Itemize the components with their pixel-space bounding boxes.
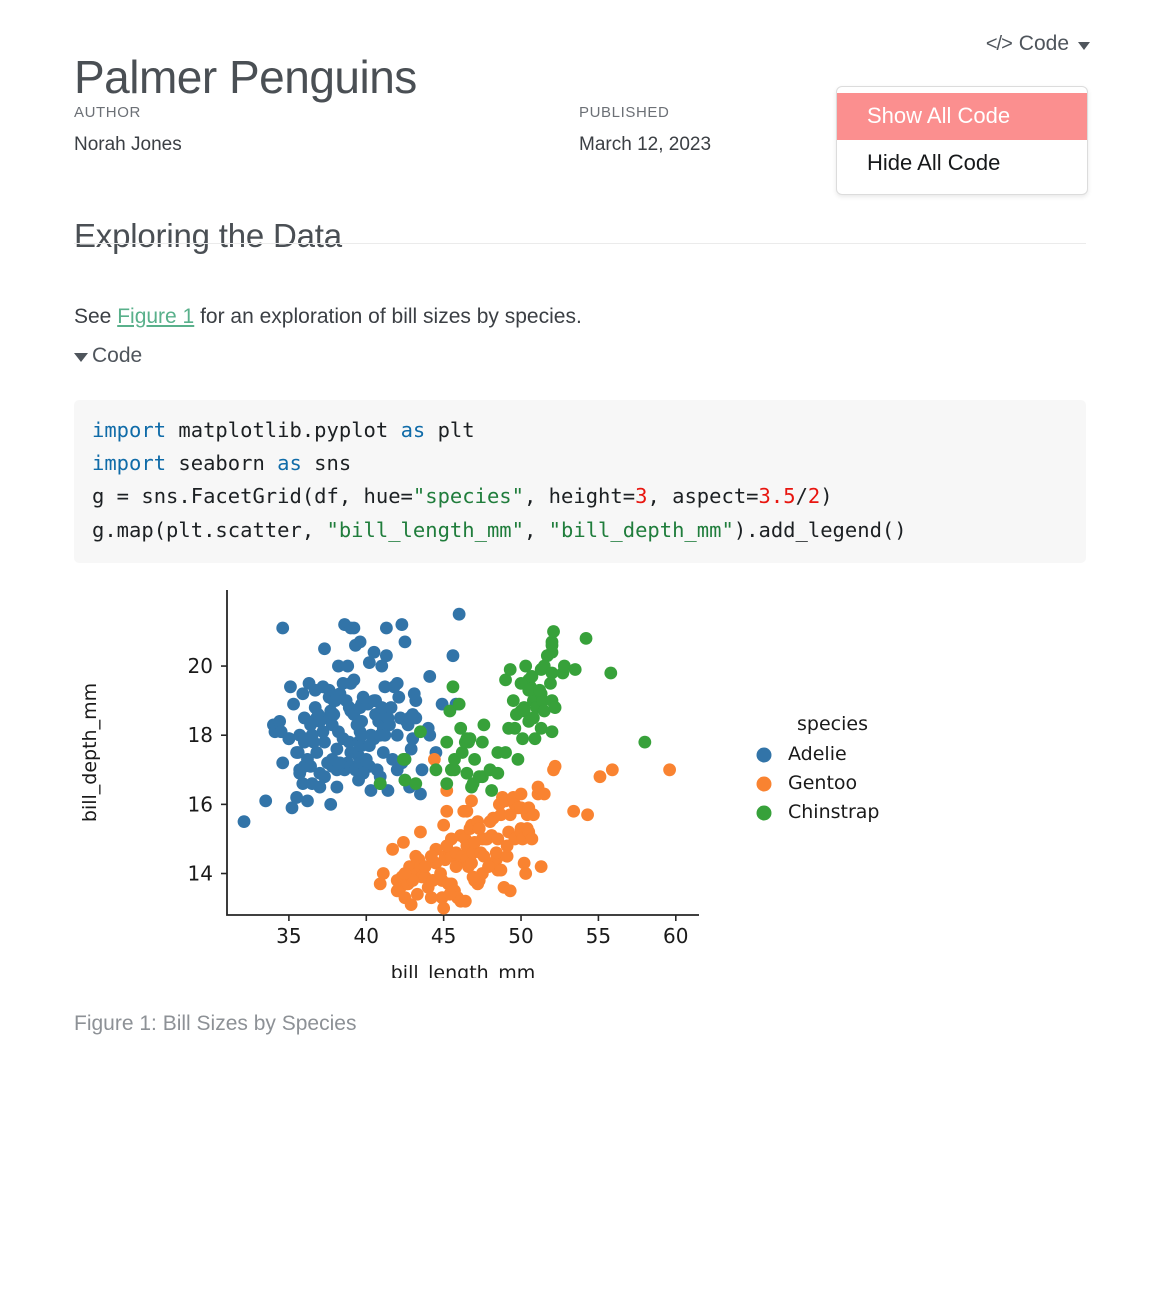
code-block: import matplotlib.pyplot as plt import s…: [74, 400, 1086, 563]
author-block: AUTHOR Norah Jones: [74, 102, 182, 158]
code-source[interactable]: import matplotlib.pyplot as plt import s…: [74, 414, 1086, 547]
code-menu-label: Code: [1019, 32, 1069, 56]
scatter-points: [238, 608, 676, 915]
y-tick-label: 18: [188, 723, 213, 747]
figure-caption: Figure 1: Bill Sizes by Species: [74, 1012, 356, 1036]
legend-label-gentoo: Gentoo: [788, 772, 857, 794]
y-tick-label: 14: [188, 862, 213, 886]
code-angle-brackets-icon: </>: [986, 33, 1012, 56]
code-fold-label: Code: [92, 344, 142, 368]
y-tick-label: 20: [188, 654, 213, 678]
x-axis-label: bill_length_mm: [391, 962, 535, 978]
series-adelie: [238, 608, 466, 828]
scatter-plot: 35404550556014161820bill_length_mmbill_d…: [74, 578, 1086, 978]
published-block: PUBLISHED March 12, 2023: [579, 102, 711, 158]
menu-item-hide-all-code[interactable]: Hide All Code: [837, 140, 1087, 187]
figure-1-link[interactable]: Figure 1: [117, 305, 194, 328]
published-value: March 12, 2023: [579, 132, 711, 159]
x-tick-label: 55: [586, 924, 611, 948]
section-heading: Exploring the Data: [74, 217, 342, 255]
paragraph-text-after: for an exploration of bill sizes by spec…: [194, 305, 582, 328]
author-value: Norah Jones: [74, 132, 182, 159]
x-tick-label: 50: [508, 924, 533, 948]
page-title: Palmer Penguins: [74, 51, 417, 104]
legend-title: species: [797, 713, 868, 735]
author-label: AUTHOR: [74, 102, 182, 125]
x-tick-label: 35: [276, 924, 301, 948]
document-page: Palmer Penguins AUTHOR Norah Jones PUBLI…: [0, 0, 1160, 1306]
legend-swatch-chinstrap: [757, 806, 772, 821]
y-axis-label: bill_depth_mm: [79, 683, 101, 822]
x-tick-label: 60: [663, 924, 688, 948]
y-tick-label: 16: [188, 792, 213, 816]
code-dropdown-menu[interactable]: Show All Code Hide All Code: [836, 86, 1088, 195]
figure-1: 35404550556014161820bill_length_mmbill_d…: [74, 578, 1086, 978]
x-tick-label: 40: [354, 924, 379, 948]
x-tick-label: 45: [431, 924, 456, 948]
caret-down-icon: [74, 353, 88, 362]
section-divider: [74, 243, 1086, 244]
published-label: PUBLISHED: [579, 102, 711, 125]
legend-label-chinstrap: Chinstrap: [788, 801, 880, 823]
chevron-down-icon: [1078, 42, 1090, 50]
code-fold-toggle[interactable]: Code: [74, 344, 142, 368]
code-menu-button[interactable]: </> Code: [986, 32, 1090, 56]
menu-item-show-all-code[interactable]: Show All Code: [837, 93, 1087, 140]
legend-swatch-gentoo: [757, 777, 772, 792]
legend-label-adelie: Adelie: [788, 743, 847, 765]
intro-paragraph: See Figure 1 for an exploration of bill …: [74, 301, 1074, 333]
legend-swatch-adelie: [757, 748, 772, 763]
series-gentoo: [374, 753, 676, 914]
paragraph-text-before: See: [74, 305, 117, 328]
